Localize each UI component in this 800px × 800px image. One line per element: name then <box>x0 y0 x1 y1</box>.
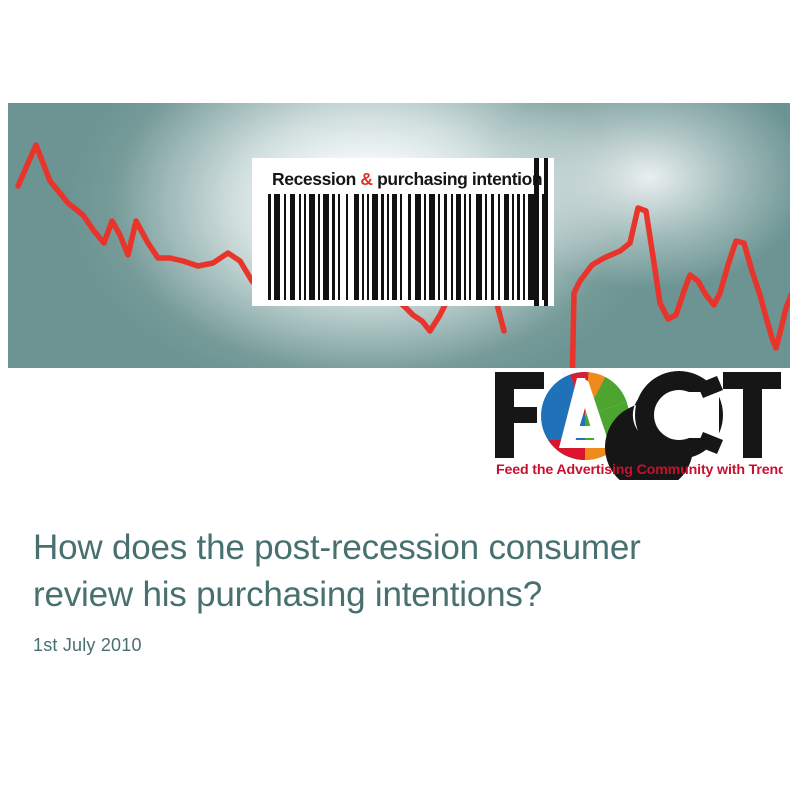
barcode-title-prefix: Recession <box>272 169 360 189</box>
page-title-line-1: How does the post-recession consumer <box>33 524 763 571</box>
title-block: How does the post-recession consumer rev… <box>33 524 763 656</box>
presentation-date: 1st July 2010 <box>33 635 763 656</box>
barcode-graphic: Recession & purchasing intention <box>244 158 562 306</box>
trend-line-right <box>572 208 790 368</box>
barcode-card: Recession & purchasing intention <box>252 158 554 306</box>
recession-banner: Recession & purchasing intention <box>8 103 790 368</box>
barcode-guard-bar-right-2 <box>544 158 548 306</box>
barcode-title-suffix: purchasing intention <box>373 169 543 189</box>
barcode-guard-bar-right <box>534 158 539 306</box>
fact-logo: Feed the Advertising Community with Tren… <box>493 370 783 480</box>
logo-tagline: Feed the Advertising Community with Tren… <box>496 462 783 478</box>
logo-letter-t <box>723 372 781 458</box>
barcode-bars <box>266 194 550 300</box>
page-title-line-2: review his purchasing intentions? <box>33 571 763 618</box>
logo-letter-f <box>495 372 544 458</box>
barcode-title-ampersand: & <box>360 169 372 189</box>
barcode-title: Recession & purchasing intention <box>272 164 544 194</box>
fact-logo-svg: Feed the Advertising Community with Tren… <box>493 370 783 480</box>
